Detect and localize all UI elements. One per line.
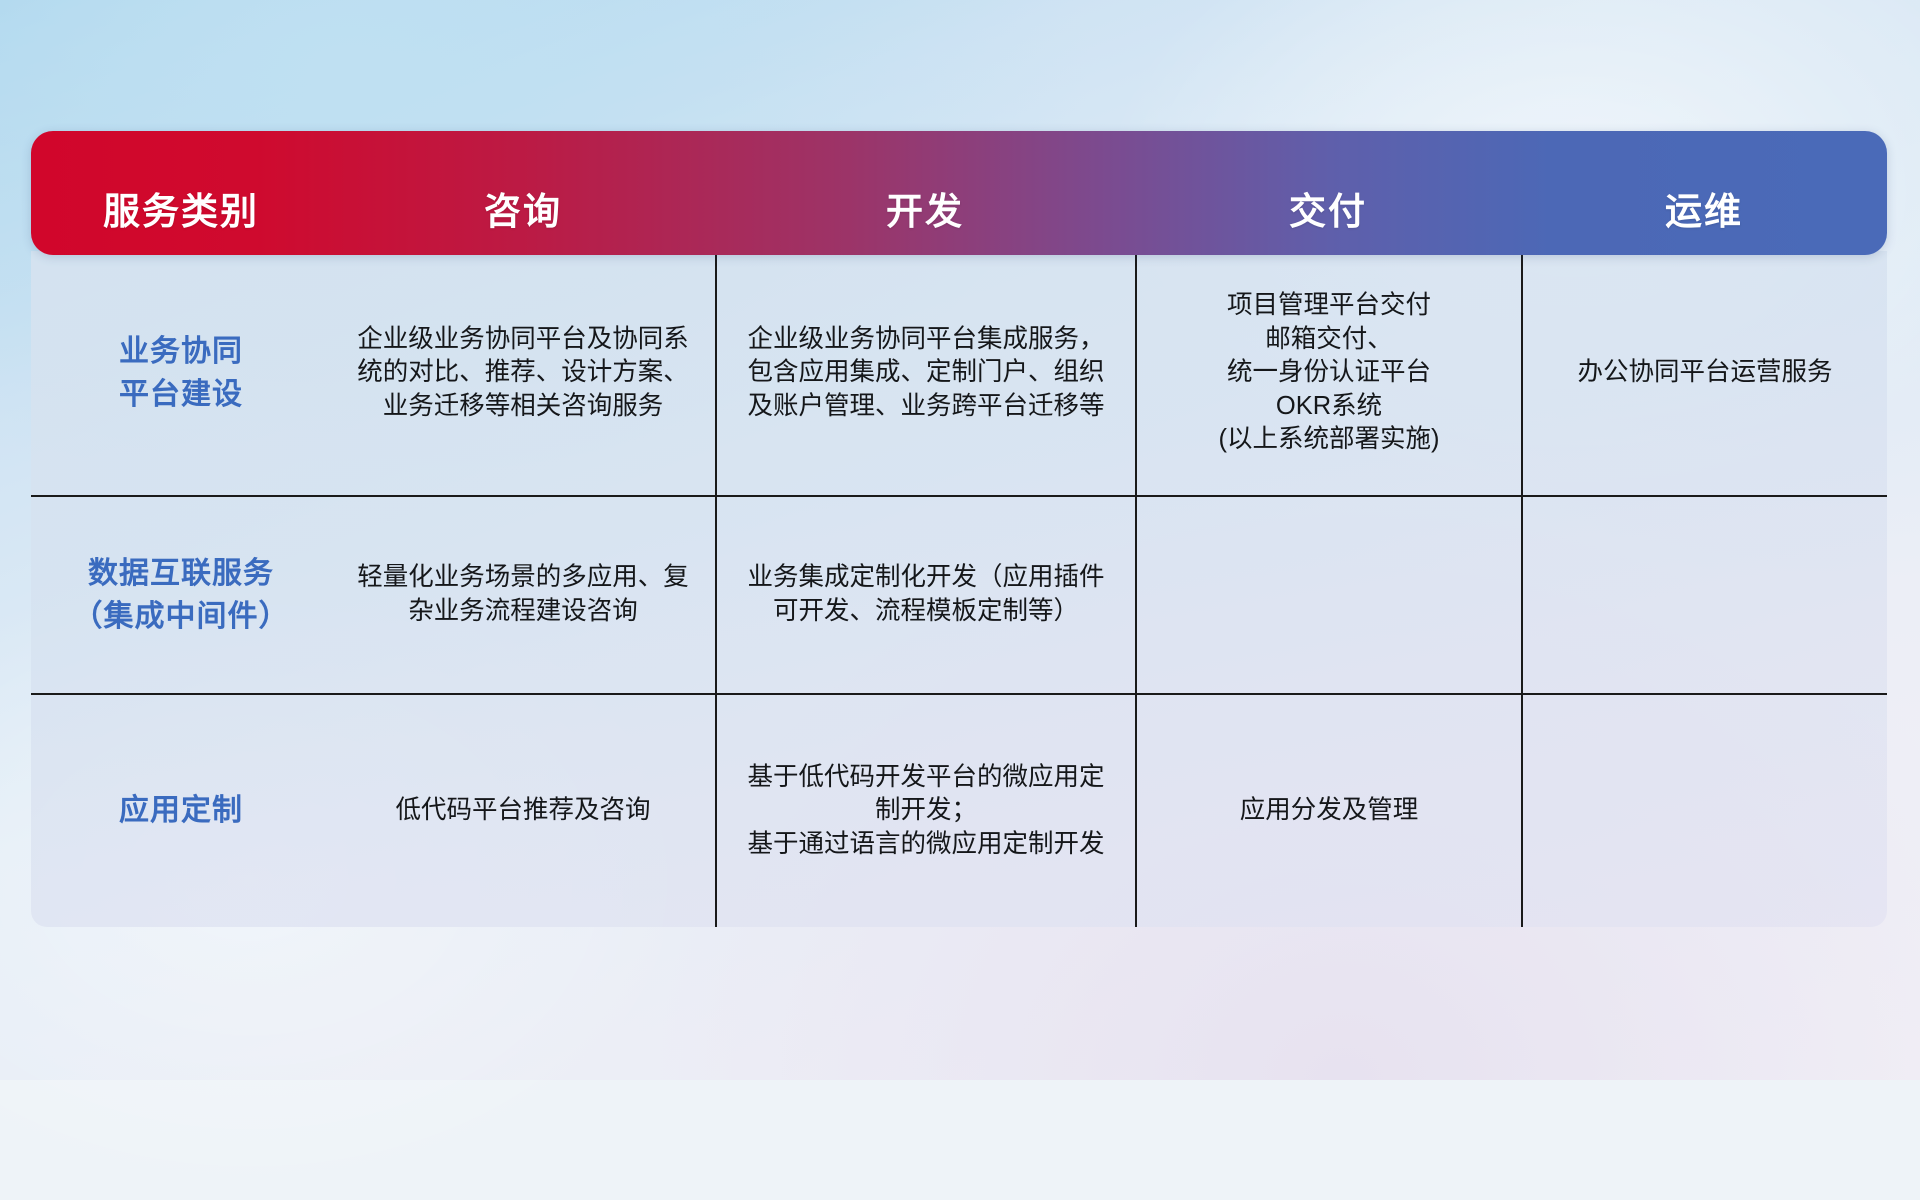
cell-delivery: 项目管理平台交付 邮箱交付、 统一身份认证平台 OKR系统 (以上系统部署实施)	[1135, 251, 1521, 495]
column-header-label: 咨询	[484, 181, 562, 235]
column-header-label: 交付	[1289, 181, 1367, 235]
table-row: 业务协同 平台建设 企业级业务协同平台及协同系 统的对比、推荐、设计方案、 业务…	[31, 251, 1887, 495]
cell-operations: 办公协同平台运营服务	[1521, 251, 1887, 495]
cell-consulting: 企业级业务协同平台及协同系 统的对比、推荐、设计方案、 业务迁移等相关咨询服务	[331, 251, 715, 495]
column-header-label: 运维	[1665, 181, 1743, 235]
slide-canvas: 服务类别 咨询 开发 交付 运维 业务协同 平台建设 企业级业务协同平台及协同系…	[0, 0, 1920, 1080]
row-category-label: 业务协同 平台建设	[31, 251, 331, 495]
cell-consulting: 低代码平台推荐及咨询	[331, 695, 715, 927]
cell-consulting: 轻量化业务场景的多应用、复 杂业务流程建设咨询	[331, 497, 715, 693]
cell-delivery: 应用分发及管理	[1135, 695, 1521, 927]
cell-delivery	[1135, 497, 1521, 693]
table-row: 应用定制 低代码平台推荐及咨询 基于低代码开发平台的微应用定 制开发； 基于通过…	[31, 693, 1887, 927]
column-header-development: 开发	[715, 131, 1135, 255]
column-header-label: 开发	[886, 181, 964, 235]
column-header-label: 服务类别	[103, 181, 259, 235]
column-header-operations: 运维	[1521, 131, 1887, 255]
column-header-consulting: 咨询	[331, 131, 715, 255]
row-category-label: 数据互联服务 （集成中间件）	[31, 497, 331, 693]
table-header-row: 服务类别 咨询 开发 交付 运维	[31, 131, 1887, 255]
service-matrix-table: 服务类别 咨询 开发 交付 运维 业务协同 平台建设 企业级业务协同平台及协同系…	[31, 131, 1887, 927]
cell-development: 基于低代码开发平台的微应用定 制开发； 基于通过语言的微应用定制开发	[715, 695, 1135, 927]
cell-operations	[1521, 497, 1887, 693]
table-body: 业务协同 平台建设 企业级业务协同平台及协同系 统的对比、推荐、设计方案、 业务…	[31, 251, 1887, 927]
cell-development: 企业级业务协同平台集成服务， 包含应用集成、定制门户、组织 及账户管理、业务跨平…	[715, 251, 1135, 495]
cell-development: 业务集成定制化开发（应用插件 可开发、流程模板定制等）	[715, 497, 1135, 693]
table-row: 数据互联服务 （集成中间件） 轻量化业务场景的多应用、复 杂业务流程建设咨询 业…	[31, 495, 1887, 693]
column-header-service-category: 服务类别	[31, 131, 331, 255]
row-category-label: 应用定制	[31, 695, 331, 927]
cell-operations	[1521, 695, 1887, 927]
column-header-delivery: 交付	[1135, 131, 1521, 255]
